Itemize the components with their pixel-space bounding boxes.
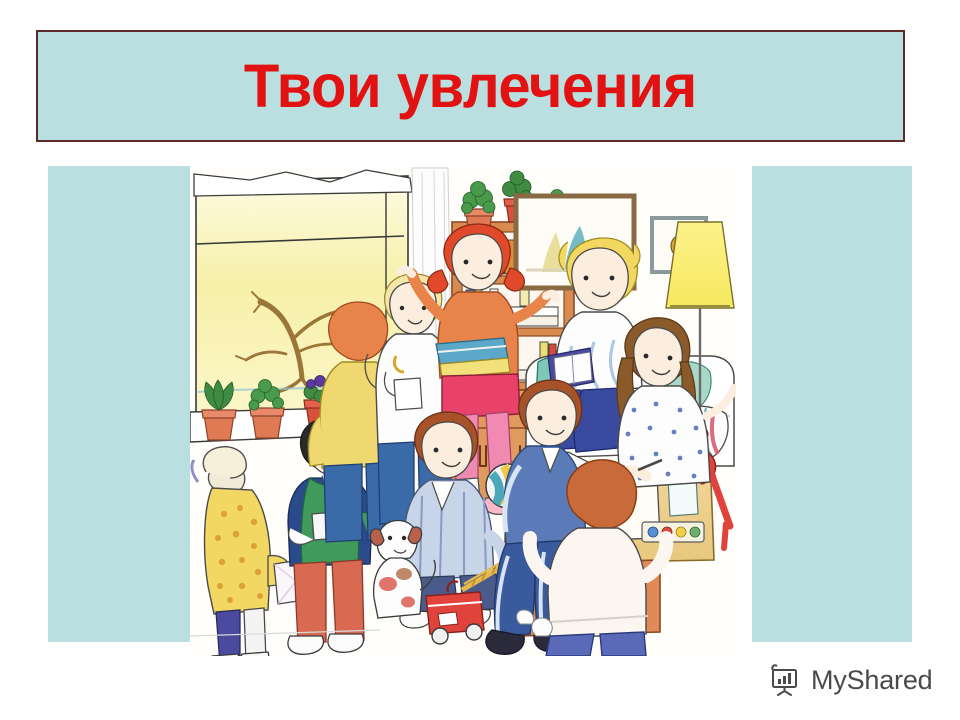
title-box: Твои увлечения [36, 30, 905, 142]
carried-books-icon [436, 338, 510, 378]
watermark-label: MyShared [811, 665, 932, 696]
slide-root: Твои увлечения [0, 0, 960, 720]
page-title: Твои увлечения [244, 56, 697, 117]
myshared-watermark: MyShared [768, 657, 933, 703]
scene-illustration [190, 166, 736, 656]
right-accent-panel [752, 166, 912, 642]
presentation-chart-icon [768, 663, 802, 697]
left-accent-panel [48, 166, 190, 642]
